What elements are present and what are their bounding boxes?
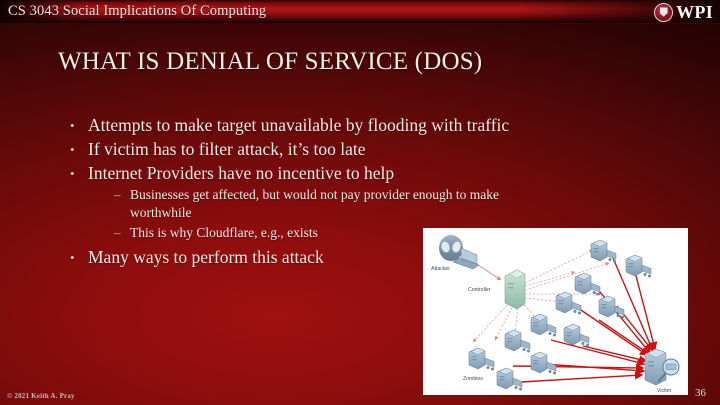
- sub-list-item-label: Businesses get affected, but would not p…: [130, 186, 514, 222]
- ddos-botnet-diagram: Attacker Controller: [423, 228, 688, 395]
- zombies-label: Zombies: [463, 376, 483, 382]
- list-item-label: Many ways to perform this attack: [88, 246, 324, 269]
- slide-number: 36: [695, 387, 706, 399]
- list-item-label: If victim has to filter attack, it’s too…: [88, 138, 366, 161]
- list-item-label: Attempts to make target unavailable by f…: [88, 114, 509, 137]
- attacker-label: Attacker: [431, 266, 450, 272]
- wpi-logo: WPI: [654, 1, 713, 23]
- wpi-seal-icon: [654, 3, 673, 22]
- bullet-marker-icon: •: [70, 246, 88, 269]
- bullet-marker-icon: •: [70, 138, 88, 161]
- sub-list-item: – Businesses get affected, but would not…: [114, 186, 514, 222]
- dash-marker-icon: –: [114, 224, 130, 242]
- list-item: • If victim has to filter attack, it’s t…: [70, 138, 670, 161]
- wpi-wordmark: WPI: [676, 3, 713, 21]
- list-item: • Attempts to make target unavailable by…: [70, 114, 670, 137]
- bullet-marker-icon: •: [70, 162, 88, 185]
- list-item: • Internet Providers have no incentive t…: [70, 162, 670, 185]
- copyright-notice: © 2021 Keith A. Pray: [7, 392, 75, 400]
- presentation-slide: CS 3043 Social Implications Of Computing…: [0, 0, 720, 405]
- slide-header-bar: CS 3043 Social Implications Of Computing…: [0, 0, 720, 24]
- controller-label: Controller: [468, 287, 491, 293]
- dash-marker-icon: –: [114, 186, 130, 204]
- list-item-label: Internet Providers have no incentive to …: [88, 162, 394, 185]
- victim-label: Victim: [657, 388, 671, 394]
- bullet-marker-icon: •: [70, 114, 88, 137]
- page-title: WHAT IS DENIAL OF SERVICE (DOS): [58, 48, 482, 76]
- course-title: CS 3043 Social Implications Of Computing: [8, 3, 266, 20]
